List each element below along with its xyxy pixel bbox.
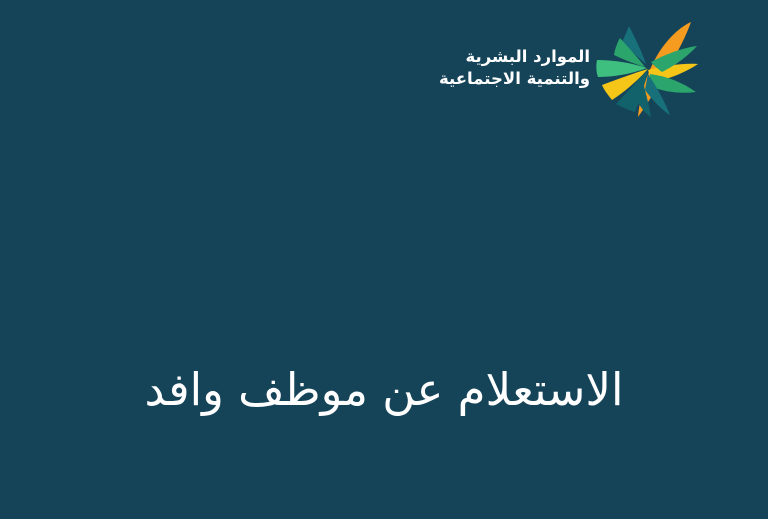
logo-wordmark-line-2: والتنمية الاجتماعية (439, 68, 590, 90)
ministry-logo: الموارد البشرية والتنمية الاجتماعية (439, 22, 700, 117)
headline-container: الاستعلام عن موظف وافد (0, 330, 768, 451)
title-slide: الموارد البشرية والتنمية الاجتماعية الاس… (0, 0, 768, 519)
page-title: الاستعلام عن موظف وافد (145, 360, 624, 421)
logo-wordmark: الموارد البشرية والتنمية الاجتماعية (439, 46, 590, 94)
logo-wordmark-line-1: الموارد البشرية (466, 46, 590, 68)
starburst-palm-mark-icon (596, 22, 700, 117)
